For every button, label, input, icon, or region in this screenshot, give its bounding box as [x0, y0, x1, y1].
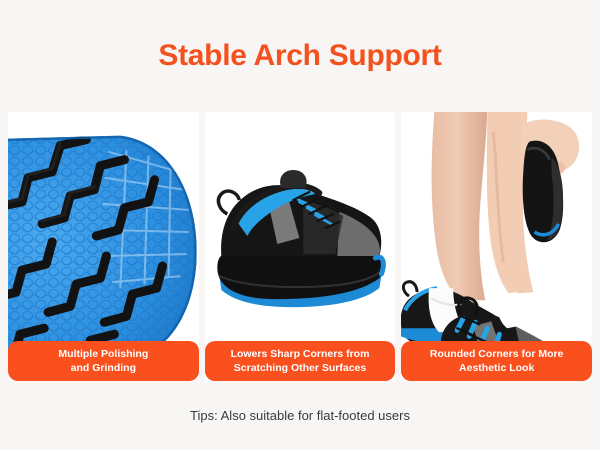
feature-caption-3: Rounded Corners for More Aesthetic Look: [401, 341, 592, 381]
caption-line-1: Multiple Polishing: [58, 347, 148, 361]
page-title: Stable Arch Support: [158, 41, 441, 71]
product-infographic: Stable Arch Support: [0, 0, 600, 450]
caption-line-1: Rounded Corners for More: [430, 347, 564, 361]
feature-card-3[interactable]: Rounded Corners for More Aesthetic Look: [401, 112, 592, 381]
caption-line-2: Aesthetic Look: [459, 361, 534, 375]
feature-panels: Multiple Polishing and Grinding: [0, 112, 600, 381]
feature-caption-2: Lowers Sharp Corners from Scratching Oth…: [205, 341, 396, 381]
title-area: Stable Arch Support: [0, 0, 600, 112]
feature-caption-1: Multiple Polishing and Grinding: [8, 341, 199, 381]
footer-area: Tips: Also suitable for flat-footed user…: [0, 381, 600, 450]
feature-card-1[interactable]: Multiple Polishing and Grinding: [8, 112, 199, 381]
caption-line-2: and Grinding: [71, 361, 136, 375]
feature-card-2[interactable]: Lowers Sharp Corners from Scratching Oth…: [205, 112, 396, 381]
caption-line-2: Scratching Other Surfaces: [234, 361, 366, 375]
caption-line-1: Lowers Sharp Corners from: [231, 347, 370, 361]
tip-text: Tips: Also suitable for flat-footed user…: [190, 408, 410, 423]
